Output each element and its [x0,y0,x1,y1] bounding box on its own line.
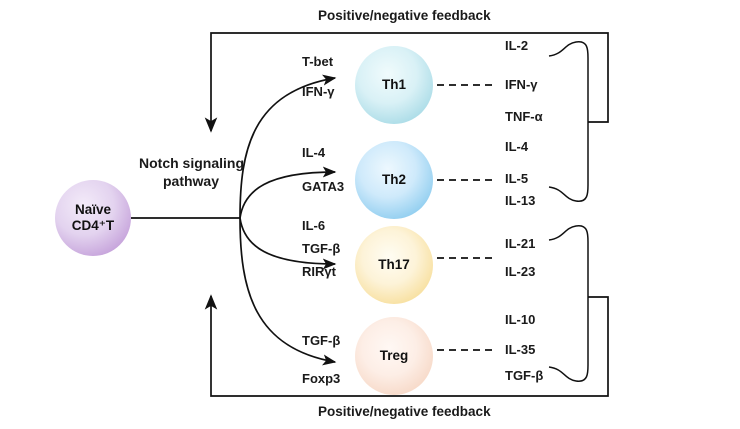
th1-cell-label: Th1 [382,77,406,93]
th17-inducer-0: IL-6 [302,219,325,234]
th17-cell-label: Th17 [378,257,410,273]
th1-inducer-1: IFN-γ [302,85,335,100]
th1-inducer-0: T-bet [302,55,333,70]
treg-inducer-0: TGF-β [302,334,340,349]
th1-cytokine-0: IL-2 [505,39,528,54]
naive-cell-line1: Naïve [72,202,114,218]
diagram-canvas: Positive/negative feedback Positive/nega… [0,0,740,429]
th2-cytokine-2: IL-13 [505,194,535,209]
feedback-label-top: Positive/negative feedback [318,8,491,24]
th2-inducer-1: GATA3 [302,180,344,195]
naive-cell-line2: CD4⁺T [72,218,114,234]
th2-cytokine-1: IL-5 [505,172,528,187]
th17-cytokine-1: IL-23 [505,265,535,280]
treg-cytokine-1: IL-35 [505,343,535,358]
th1-cytokine-2: TNF-α [505,110,543,125]
feedback-label-bottom: Positive/negative feedback [318,404,491,420]
notch-signaling-label: Notch signaling pathway [139,155,243,190]
treg-inducer-1: Foxp3 [302,372,340,387]
th2-cytokine-0: IL-4 [505,140,528,155]
notch-signaling-line2: pathway [139,173,243,191]
th1-cytokine-1: IFN-γ [505,78,538,93]
treg-cytokine-0: IL-10 [505,313,535,328]
treg-cytokine-2: TGF-β [505,369,543,384]
notch-signaling-line1: Notch signaling [139,155,243,173]
th17-inducer-2: RIRγt [302,265,336,280]
treg-cell-label: Treg [380,348,409,364]
th2-inducer-0: IL-4 [302,146,325,161]
th17-inducer-1: TGF-β [302,242,340,257]
naive-cd4-t-cell-label: Naïve CD4⁺T [72,202,114,234]
th17-cytokine-0: IL-21 [505,237,535,252]
th2-cell-label: Th2 [382,172,406,188]
